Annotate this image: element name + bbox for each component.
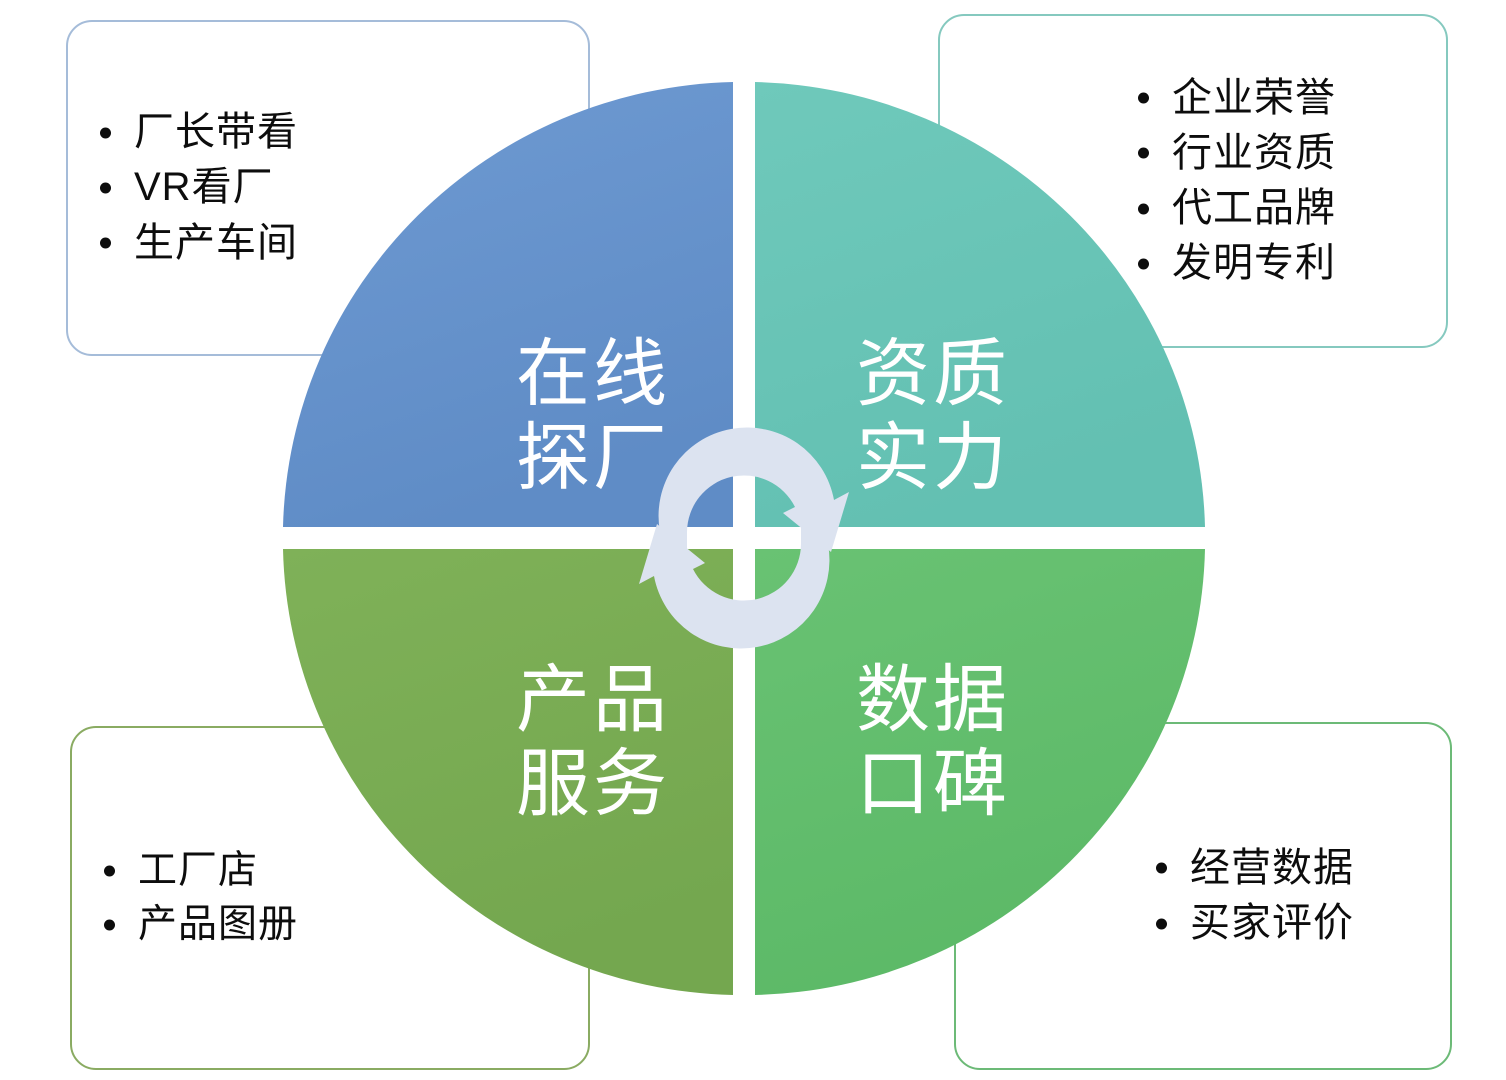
list-item: VR看厂 xyxy=(90,160,298,215)
quadrant-wheel: 在线 探厂 资质 实力 产品 服务 数据 口碑 xyxy=(283,82,1205,995)
quadrant-top-right xyxy=(755,82,1205,527)
diagram-canvas: 厂长带看 VR看厂 生产车间 企业荣誉 行业资质 代工品牌 发明专利 工厂店 产… xyxy=(0,0,1506,1080)
wheel-quadrants xyxy=(283,82,1205,995)
list-item: 工厂店 xyxy=(94,844,298,898)
callout-bottom-left-list: 工厂店 产品图册 xyxy=(94,844,298,952)
list-item: 厂长带看 xyxy=(90,105,298,160)
quadrant-bottom-right xyxy=(755,549,1205,995)
list-item: 产品图册 xyxy=(94,898,298,952)
quadrant-top-left xyxy=(283,82,733,527)
list-item: 生产车间 xyxy=(90,216,298,271)
quadrant-bottom-left xyxy=(283,549,733,995)
callout-top-left-list: 厂长带看 VR看厂 生产车间 xyxy=(90,105,298,271)
